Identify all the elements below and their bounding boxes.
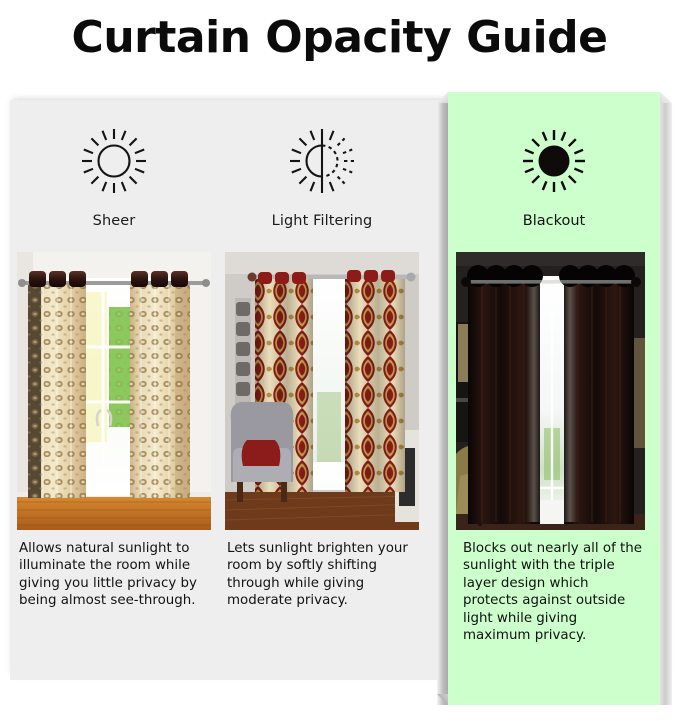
blackout-curtain-photo bbox=[456, 252, 645, 530]
column-blackout-highlighted: Blackout bbox=[448, 92, 660, 705]
category-label-light-filtering: Light Filtering bbox=[218, 213, 426, 229]
panel-bevel-top-right bbox=[660, 92, 672, 103]
sun-half-filtered-icon bbox=[218, 118, 426, 204]
sheer-curtain-photo bbox=[17, 252, 211, 530]
column-sheer: Sheer bbox=[10, 100, 218, 680]
panel-side-left bbox=[437, 103, 448, 705]
page-title: Curtain Opacity Guide bbox=[0, 12, 679, 64]
description-light-filtering: Lets sunlight brighten your room by soft… bbox=[227, 540, 410, 610]
column-light-filtering: Light Filtering bbox=[218, 100, 426, 680]
category-label-sheer: Sheer bbox=[10, 213, 218, 229]
description-blackout: Blocks out nearly all of the sunlight wi… bbox=[463, 540, 643, 644]
light-filtering-curtain-photo bbox=[225, 252, 419, 530]
sun-outline-icon bbox=[10, 118, 218, 204]
panel-side-right bbox=[660, 103, 672, 705]
sun-filled-icon bbox=[448, 118, 660, 204]
category-label-blackout: Blackout bbox=[448, 213, 660, 229]
description-sheer: Allows natural sunlight to illuminate th… bbox=[19, 540, 202, 610]
